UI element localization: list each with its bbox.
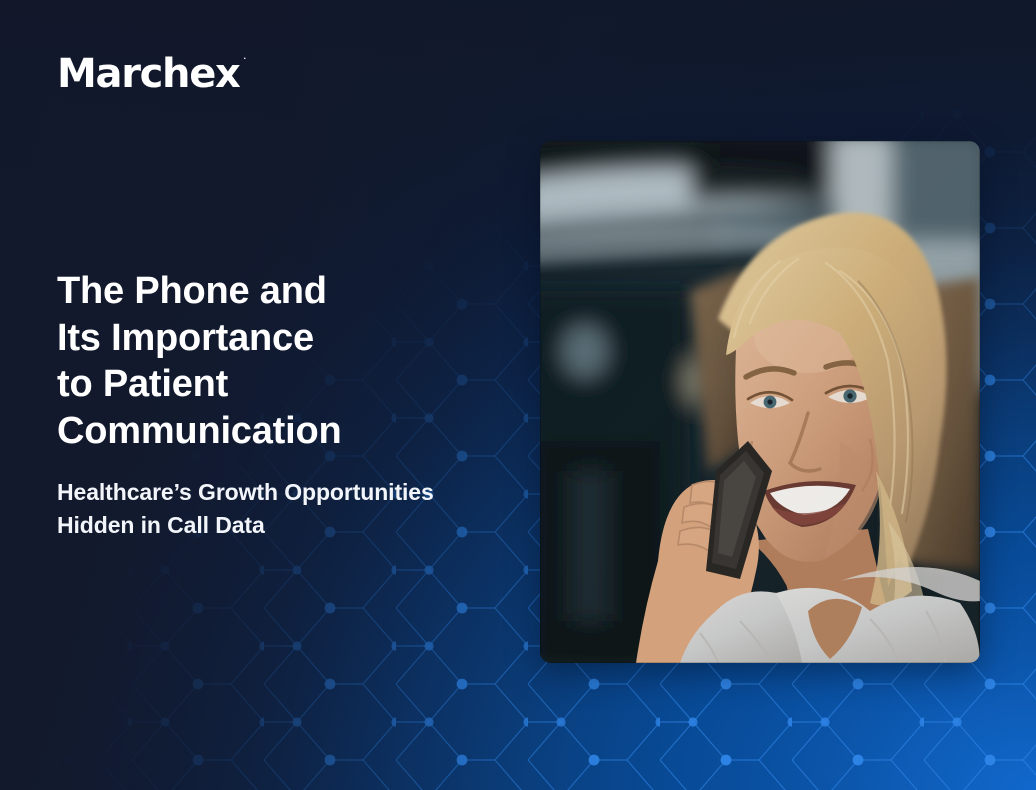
trademark-icon: ˙ <box>242 58 249 71</box>
cover-photo <box>540 141 980 663</box>
page-subtitle: Healthcare’s Growth Opportunities Hidden… <box>57 476 517 542</box>
ebook-cover-page: Marchex ˙ The Phone and Its Importance t… <box>0 0 1036 790</box>
brand-logo-wordmark: Marchex <box>57 54 240 94</box>
page-title: The Phone and Its Importance to Patient … <box>57 268 517 454</box>
cover-text-block: The Phone and Its Importance to Patient … <box>57 268 517 542</box>
brand-logo: Marchex ˙ <box>57 54 248 94</box>
cover-photo-card <box>540 141 980 663</box>
